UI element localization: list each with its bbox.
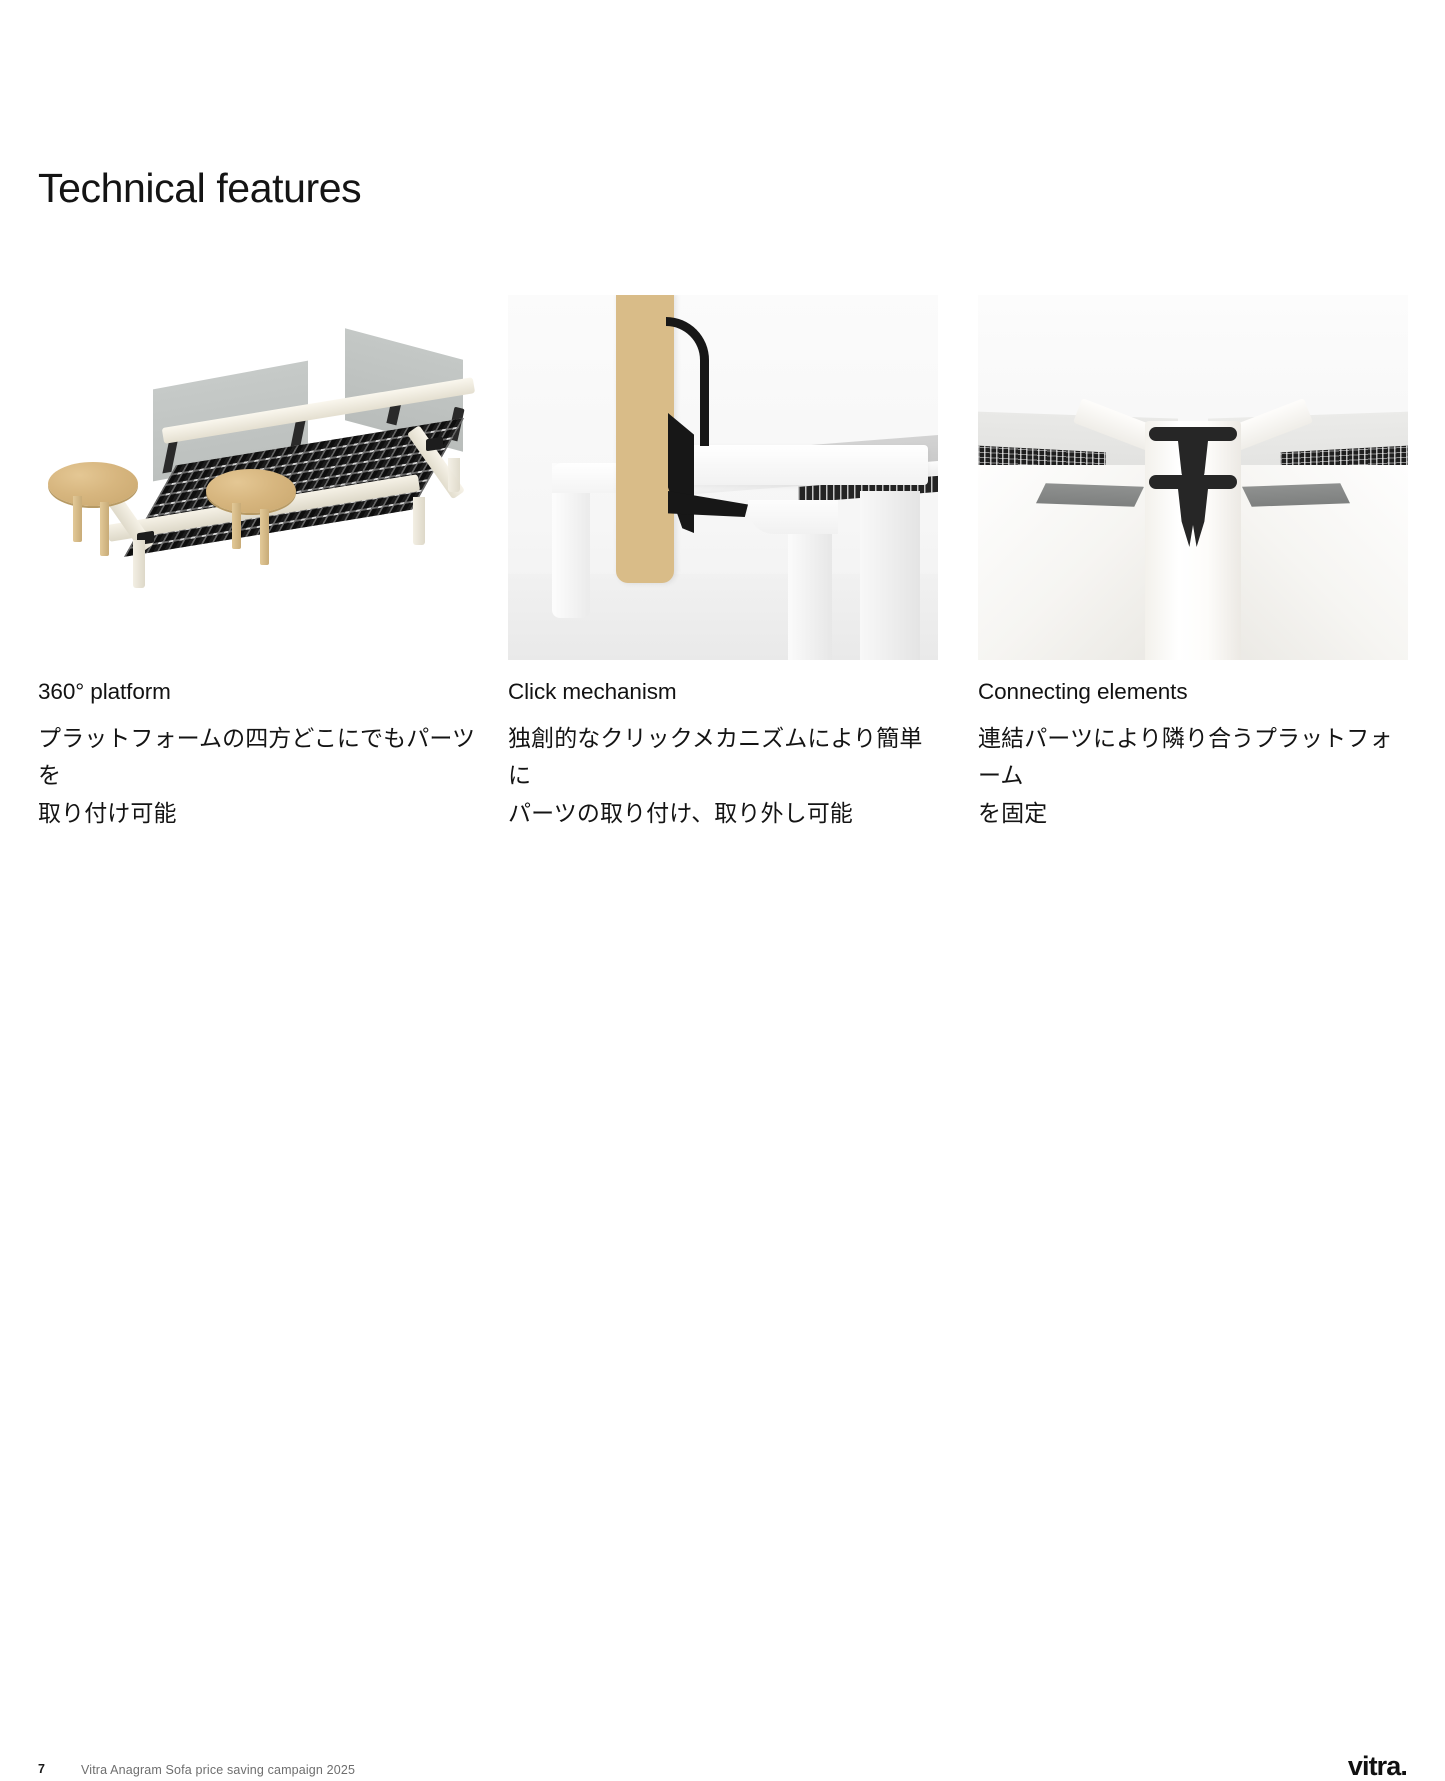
feature-image-360-platform <box>38 295 478 660</box>
table-leg <box>232 503 241 549</box>
feature-heading: Connecting elements <box>978 678 1408 706</box>
connector-stem <box>1178 489 1208 547</box>
feature-body: 独創的なクリックメカニズムにより簡単に パーツの取り付け、取り外し可能 <box>508 720 938 832</box>
table-leg <box>260 509 269 565</box>
platform-leg <box>788 500 832 660</box>
feature-column-connecting-elements: Connecting elements 連結パーツにより隣り合うプラットフォーム… <box>978 295 1408 660</box>
platform-render <box>38 295 478 660</box>
feature-body-line: プラットフォームの四方どこにでもパーツを <box>38 720 478 795</box>
feature-body: 連結パーツにより隣り合うプラットフォーム を固定 <box>978 720 1408 832</box>
oak-side-table <box>206 469 296 513</box>
render-stage <box>38 295 478 660</box>
page-number: 7 <box>38 1762 45 1776</box>
feature-image-connecting-elements <box>978 295 1408 660</box>
grey-pad-left <box>1036 483 1144 506</box>
table-top <box>48 462 138 506</box>
click-hook-tail <box>668 491 748 517</box>
connector-bar <box>1149 475 1237 489</box>
feature-body-line: 連結パーツにより隣り合うプラットフォーム <box>978 720 1408 795</box>
feature-column-click-mechanism: Click mechanism 独創的なクリックメカニズムにより簡単に パーツの… <box>508 295 938 660</box>
platform-leg <box>860 491 920 660</box>
connecting-elements-photo <box>978 295 1408 660</box>
oak-side-table <box>48 462 138 506</box>
footer-note: Vitra Anagram Sofa price saving campaign… <box>81 1763 355 1777</box>
grey-pad-right <box>1242 483 1350 506</box>
feature-body-line: を固定 <box>978 795 1408 832</box>
feature-caption: Click mechanism 独創的なクリックメカニズムにより簡単に パーツの… <box>508 678 938 832</box>
feature-body-line: 取り付け可能 <box>38 795 478 832</box>
feature-body: プラットフォームの四方どこにでもパーツを 取り付け可能 <box>38 720 478 832</box>
page-title: Technical features <box>38 164 361 213</box>
slide-footer: 7 Vitra Anagram Sofa price saving campai… <box>0 901 1445 1021</box>
slide-canvas: Technical features <box>0 0 1445 1021</box>
platform-leg <box>448 458 460 492</box>
feature-heading: 360° platform <box>38 678 478 706</box>
feature-body-line: パーツの取り付け、取り外し可能 <box>508 795 938 832</box>
connector-bar <box>1149 427 1237 441</box>
table-top <box>206 469 296 513</box>
platform-leg <box>133 540 145 588</box>
connector-clip-lower <box>1149 475 1237 547</box>
feature-caption: Connecting elements 連結パーツにより隣り合うプラットフォーム… <box>978 678 1408 832</box>
platform-leg <box>413 497 425 545</box>
feature-heading: Click mechanism <box>508 678 938 706</box>
feature-column-360-platform: 360° platform プラットフォームの四方どこにでもパーツを 取り付け可… <box>38 295 478 660</box>
feature-image-click-mechanism <box>508 295 938 660</box>
feature-body-line: 独創的なクリックメカニズムにより簡単に <box>508 720 938 795</box>
vitra-logo: vitra. <box>1348 1753 1407 1780</box>
click-mechanism-photo <box>508 295 938 660</box>
table-leg <box>73 496 82 542</box>
feature-caption: 360° platform プラットフォームの四方どこにでもパーツを 取り付け可… <box>38 678 478 832</box>
table-leg <box>100 502 109 556</box>
platform-leg <box>552 463 590 618</box>
